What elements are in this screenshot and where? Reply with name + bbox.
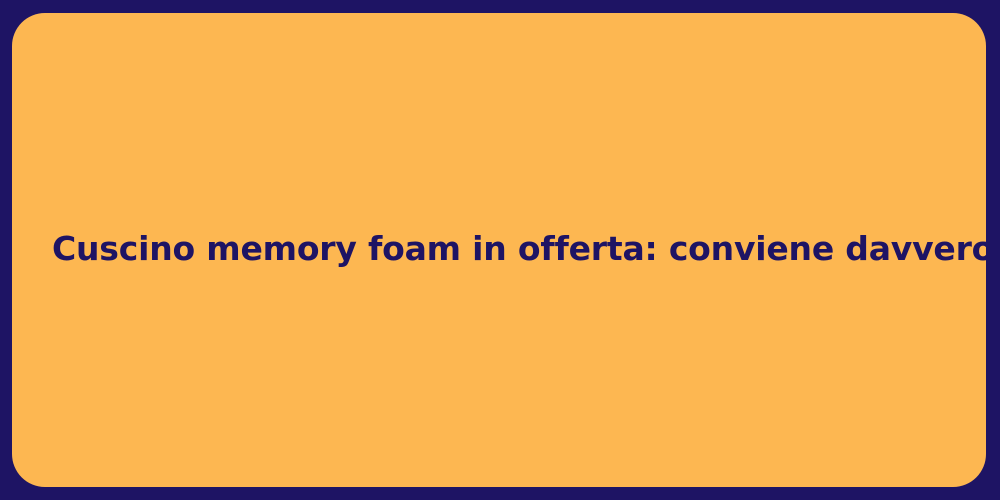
banner-title: Cuscino memory foam in offerta: conviene… (12, 229, 986, 269)
banner-card: Cuscino memory foam in offerta: conviene… (12, 13, 986, 487)
banner-frame: Cuscino memory foam in offerta: conviene… (0, 0, 1000, 500)
